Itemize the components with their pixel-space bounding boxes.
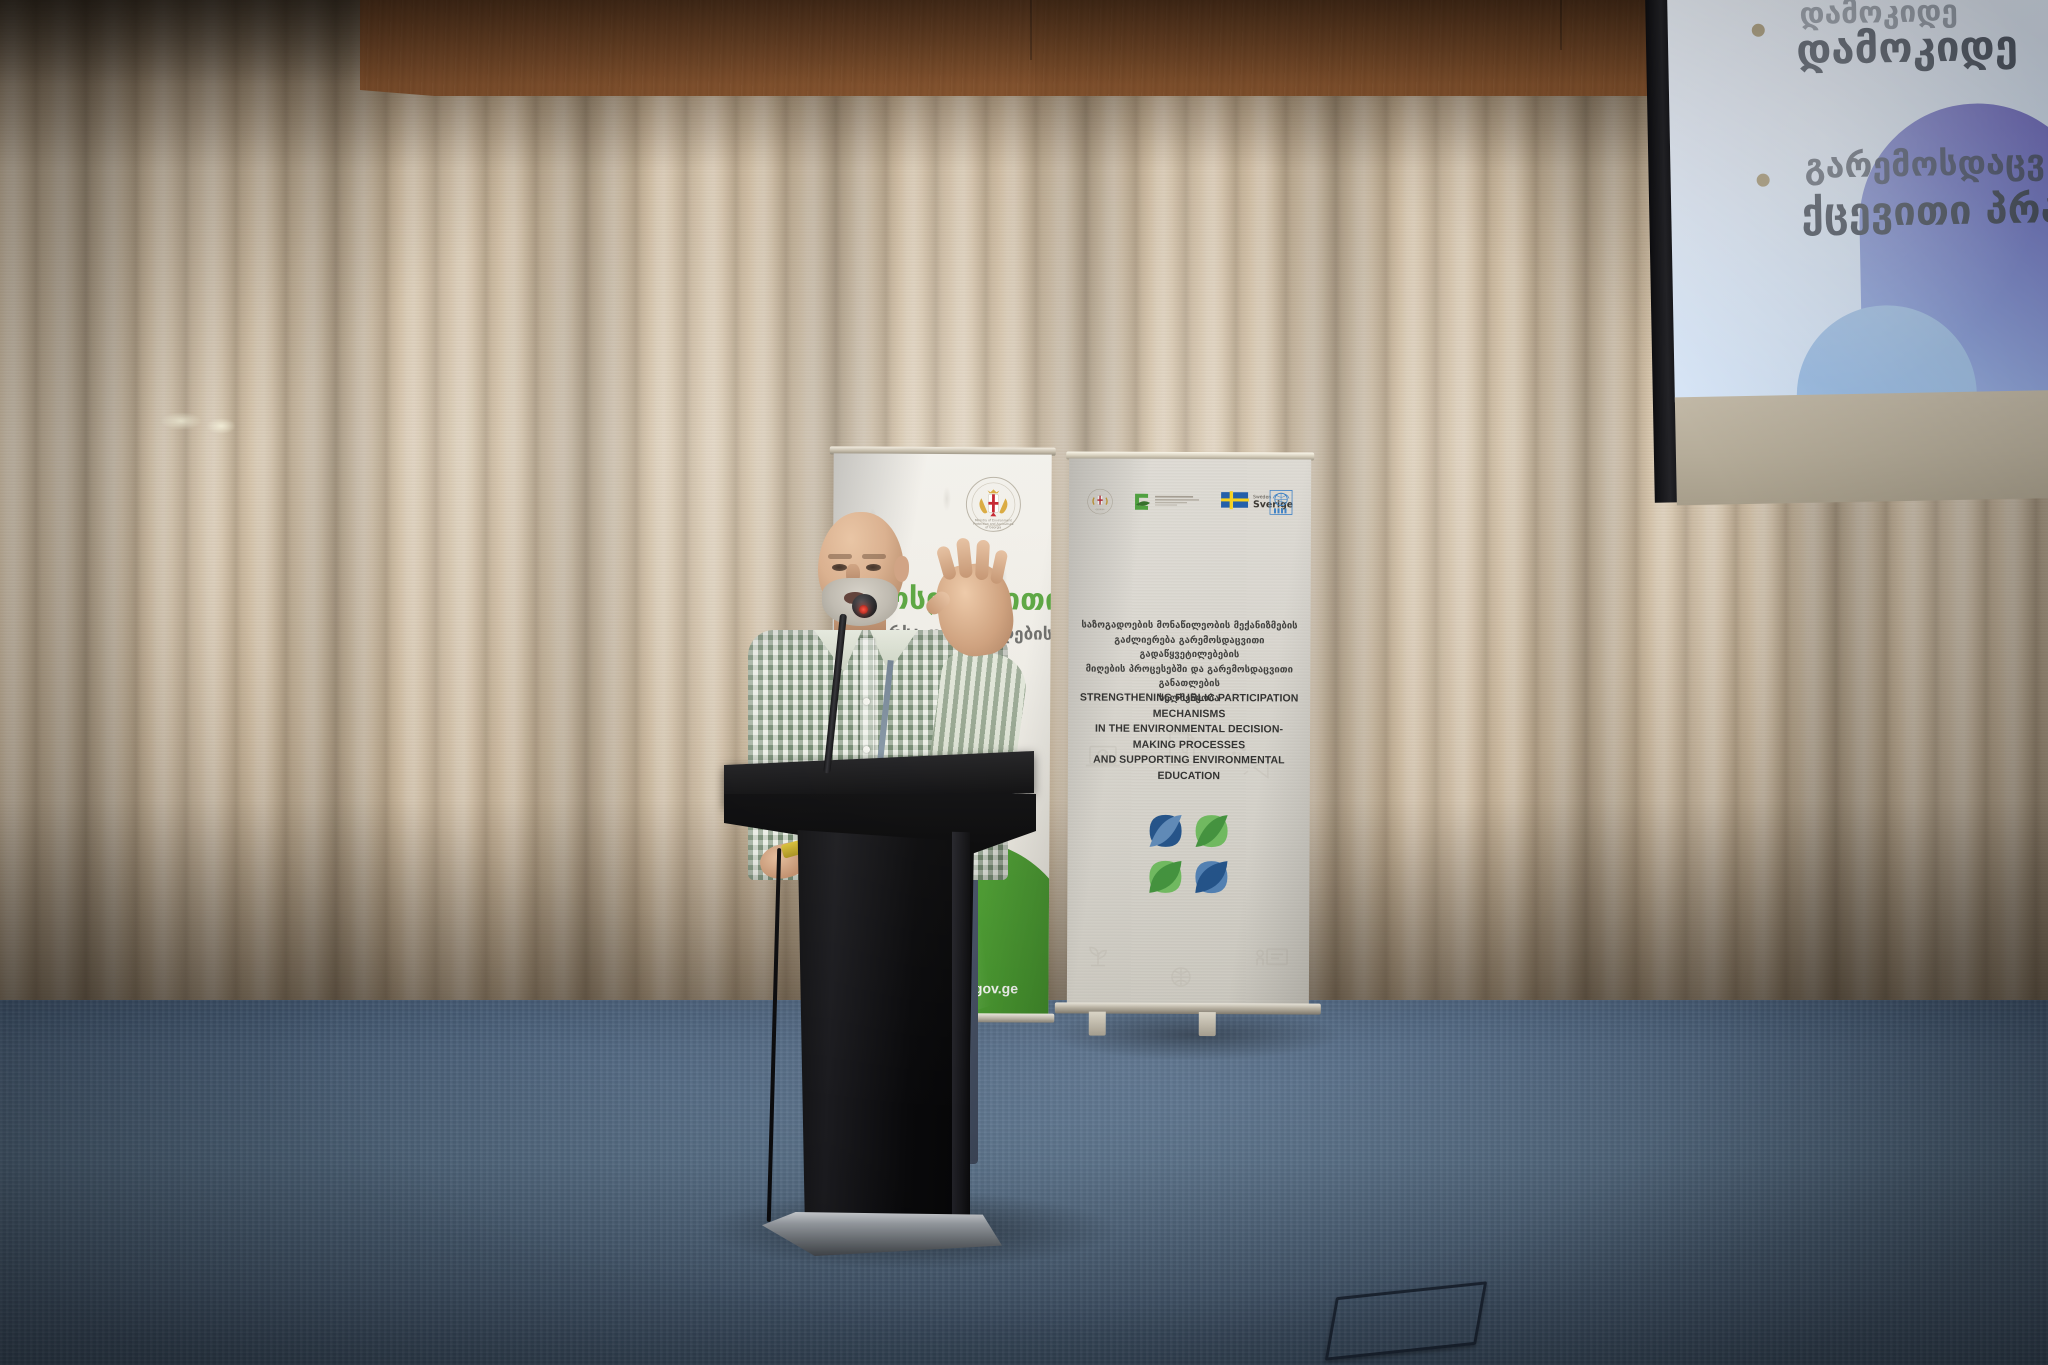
slide-text-line-1b: დამოკიდე bbox=[1796, 21, 2019, 74]
banner-english-text: STRENGTHENING PUBLIC PARTICIPATION MECHA… bbox=[1078, 691, 1300, 785]
speaker-eye-left bbox=[832, 564, 847, 571]
photo-scene: დამოკიდე დამოკიდე გარემოსდაცვ ქცევითი პრ… bbox=[0, 0, 2048, 1365]
slide-surface: დამოკიდე დამოკიდე გარემოსდაცვ ქცევითი პრ… bbox=[1667, 0, 2048, 402]
speaker-finger bbox=[936, 545, 958, 581]
slide-bullet-icon bbox=[1757, 174, 1770, 187]
lectern-column bbox=[794, 830, 974, 1230]
mic-status-led bbox=[859, 605, 868, 614]
speaker-finger bbox=[990, 549, 1009, 585]
slide-text-line-3: ქცევითი პრაქ bbox=[1801, 185, 2048, 236]
speaker-eyebrow-right bbox=[862, 554, 886, 559]
metal-lectern-base bbox=[762, 1212, 1002, 1256]
english-line-3: AND SUPPORTING ENVIRONMENTAL EDUCATION bbox=[1078, 753, 1300, 785]
speaker-finger bbox=[956, 537, 973, 578]
lectern-side-edge bbox=[952, 832, 970, 1229]
speaker-finger bbox=[975, 540, 990, 581]
georgian-line-3: მიღების პროცესებში და გარემოსდაცვითი გან… bbox=[1076, 662, 1302, 692]
projection-screen: დამოკიდე დამოკიდე გარემოსდაცვ ქცევითი პრ… bbox=[1645, 0, 2048, 508]
project-roll-up-banner: GEORGIA bbox=[1067, 451, 1312, 1030]
four-petal-project-logo bbox=[1145, 811, 1231, 897]
banner-foot-right bbox=[1199, 1012, 1216, 1036]
english-line-2: IN THE ENVIRONMENTAL DECISION-MAKING PRO… bbox=[1078, 722, 1300, 754]
slide-text-line-2: გარემოსდაცვ bbox=[1804, 142, 2045, 187]
black-lectern bbox=[724, 744, 1054, 1254]
globe-icon bbox=[1172, 968, 1190, 986]
presenter-board-icon bbox=[1257, 949, 1287, 965]
speaker-ear bbox=[894, 556, 909, 582]
english-line-1: STRENGTHENING PUBLIC PARTICIPATION MECHA… bbox=[1078, 691, 1300, 723]
plant-sprout-icon bbox=[1090, 948, 1106, 966]
speaker-eye-right bbox=[866, 564, 881, 571]
slide-bullet-icon bbox=[1752, 24, 1765, 37]
shirt-button bbox=[863, 698, 870, 705]
banner-print-surface: GEORGIA bbox=[1067, 458, 1311, 1007]
banner-foot-left bbox=[1089, 1012, 1106, 1036]
speaker-eyebrow-left bbox=[828, 554, 852, 559]
georgian-line-2: გაძლიერება გარემოსდაცვითი გადაწყვეტილებე… bbox=[1076, 633, 1302, 663]
microphone-cable bbox=[767, 848, 781, 1222]
wall-below-screen bbox=[1675, 390, 2048, 505]
georgian-line-1: საზოგადოების მონაწილეობის მექანიზმების bbox=[1076, 619, 1302, 634]
